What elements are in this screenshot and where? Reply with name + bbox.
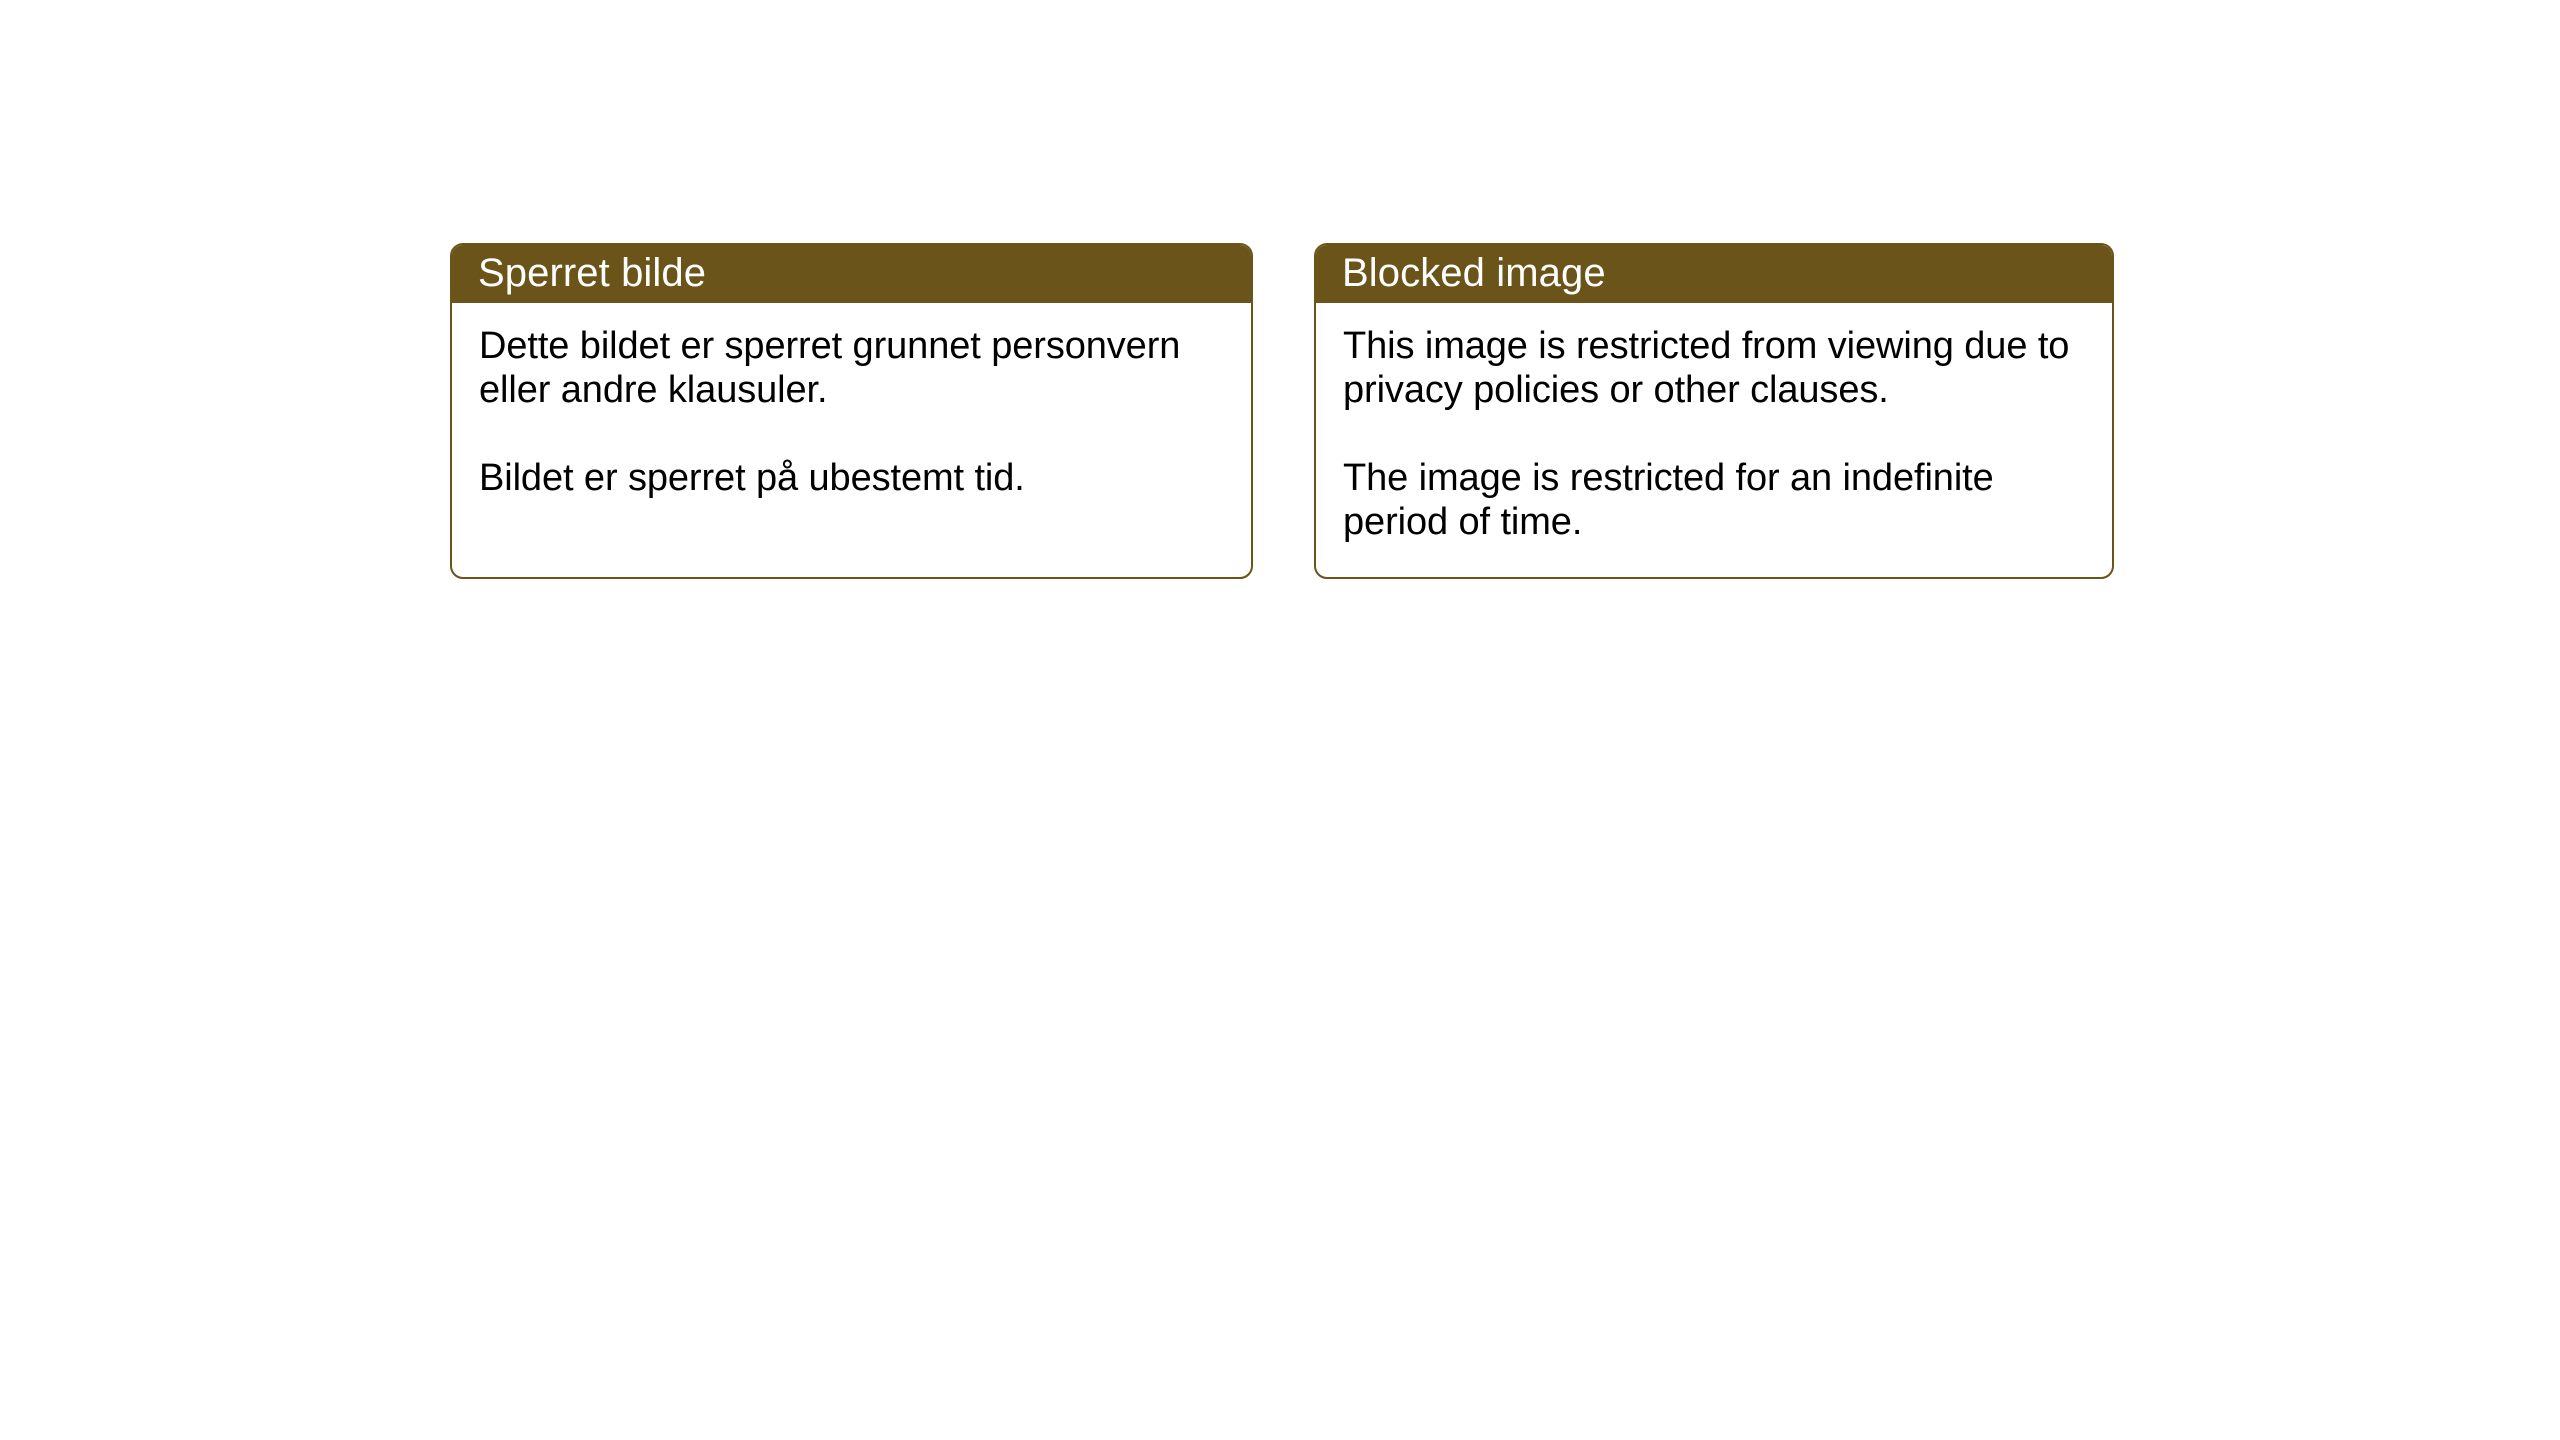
- blocked-image-notice-card-norwegian: Sperret bilde Dette bildet er sperret gr…: [450, 243, 1253, 579]
- notice-paragraph-reason-norwegian: Dette bildet er sperret grunnet personve…: [479, 324, 1225, 412]
- notice-card-header-norwegian: Sperret bilde: [450, 243, 1253, 303]
- notice-card-body-norwegian: Dette bildet er sperret grunnet personve…: [452, 303, 1251, 577]
- notice-title-english: Blocked image: [1342, 253, 1606, 293]
- paragraph-spacer: [1343, 412, 2086, 456]
- notice-paragraph-duration-norwegian: Bildet er sperret på ubestemt tid.: [479, 456, 1225, 500]
- paragraph-spacer: [479, 412, 1225, 456]
- notice-card-header-english: Blocked image: [1314, 243, 2114, 303]
- blocked-image-notice-card-english: Blocked image This image is restricted f…: [1314, 243, 2114, 579]
- notice-card-body-english: This image is restricted from viewing du…: [1316, 303, 2112, 577]
- notice-paragraph-reason-english: This image is restricted from viewing du…: [1343, 324, 2086, 412]
- notice-paragraph-duration-english: The image is restricted for an indefinit…: [1343, 456, 2086, 544]
- notice-title-norwegian: Sperret bilde: [478, 253, 706, 293]
- blocked-image-notice-area: Sperret bilde Dette bildet er sperret gr…: [450, 243, 2114, 579]
